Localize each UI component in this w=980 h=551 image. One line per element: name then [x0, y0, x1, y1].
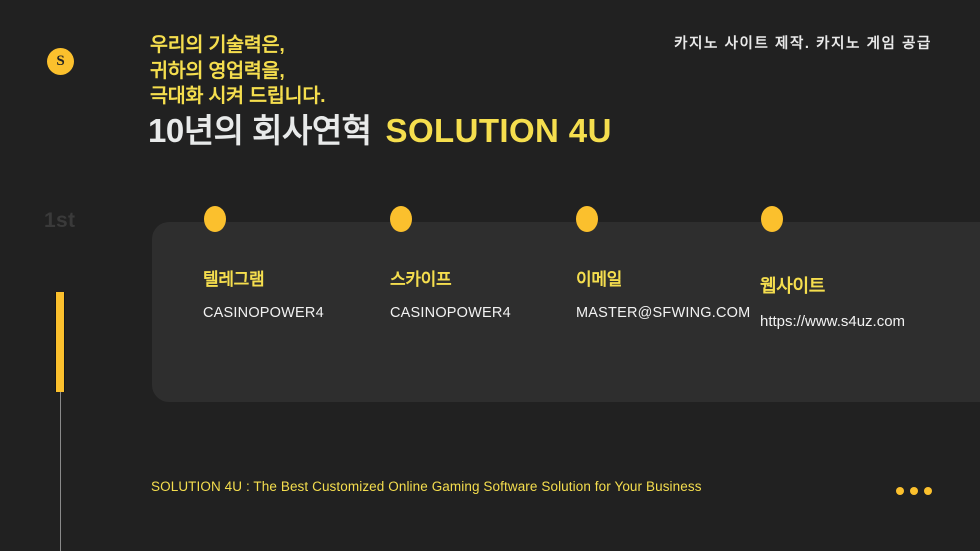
contact-value[interactable]: https://www.s4uz.com [760, 313, 905, 330]
tagline-block: 우리의 기술력은, 귀하의 영업력을, 극대화 시켜 드립니다. [150, 33, 325, 110]
footer-dot-3 [924, 487, 932, 495]
kicker-text: 카지노 사이트 제작. 카지노 게임 공급 [674, 32, 932, 53]
solution-4u-logo-icon: S [47, 48, 74, 75]
contact-label: 이메일 [576, 265, 750, 290]
contact-value[interactable]: CASINOPOWER4 [390, 305, 511, 321]
contact-label: 텔레그램 [203, 265, 324, 290]
contact-label: 웹사이트 [760, 272, 905, 298]
footer-dot-1 [896, 487, 904, 495]
page-title: 10년의 회사연혁 SOLUTION 4U [148, 114, 612, 147]
footer-text: SOLUTION 4U : The Best Customized Online… [151, 479, 702, 494]
footer-dot-2 [910, 487, 918, 495]
presentation-slide: S 카지노 사이트 제작. 카지노 게임 공급 우리의 기술력은, 귀하의 영업… [0, 0, 980, 551]
page-title-english: SOLUTION 4U [386, 114, 612, 147]
contact-item-website[interactable]: 웹사이트 https://www.s4uz.com [760, 272, 905, 330]
footer-dots-icon [896, 487, 932, 495]
contact-columns: 텔레그램 CASINOPOWER4 스카이프 CASINOPOWER4 이메일 … [152, 222, 980, 402]
logo-letter: S [56, 54, 64, 69]
rail-label: 1st [44, 209, 75, 233]
contact-label: 스카이프 [390, 265, 511, 290]
rail-progress-bar [55, 292, 65, 392]
tagline-line-2: 귀하의 영업력을, [150, 59, 325, 85]
contact-value[interactable]: MASTER@SFWING.COM [576, 305, 750, 321]
contact-item-email[interactable]: 이메일 MASTER@SFWING.COM [576, 265, 750, 321]
contact-item-telegram[interactable]: 텔레그램 CASINOPOWER4 [203, 265, 324, 321]
tagline-line-1: 우리의 기술력은, [150, 33, 325, 59]
contact-item-skype[interactable]: 스카이프 CASINOPOWER4 [390, 265, 511, 321]
tagline-line-3: 극대화 시켜 드립니다. [150, 84, 325, 110]
page-title-korean: 10년의 회사연혁 [148, 114, 372, 147]
contact-value[interactable]: CASINOPOWER4 [203, 305, 324, 321]
